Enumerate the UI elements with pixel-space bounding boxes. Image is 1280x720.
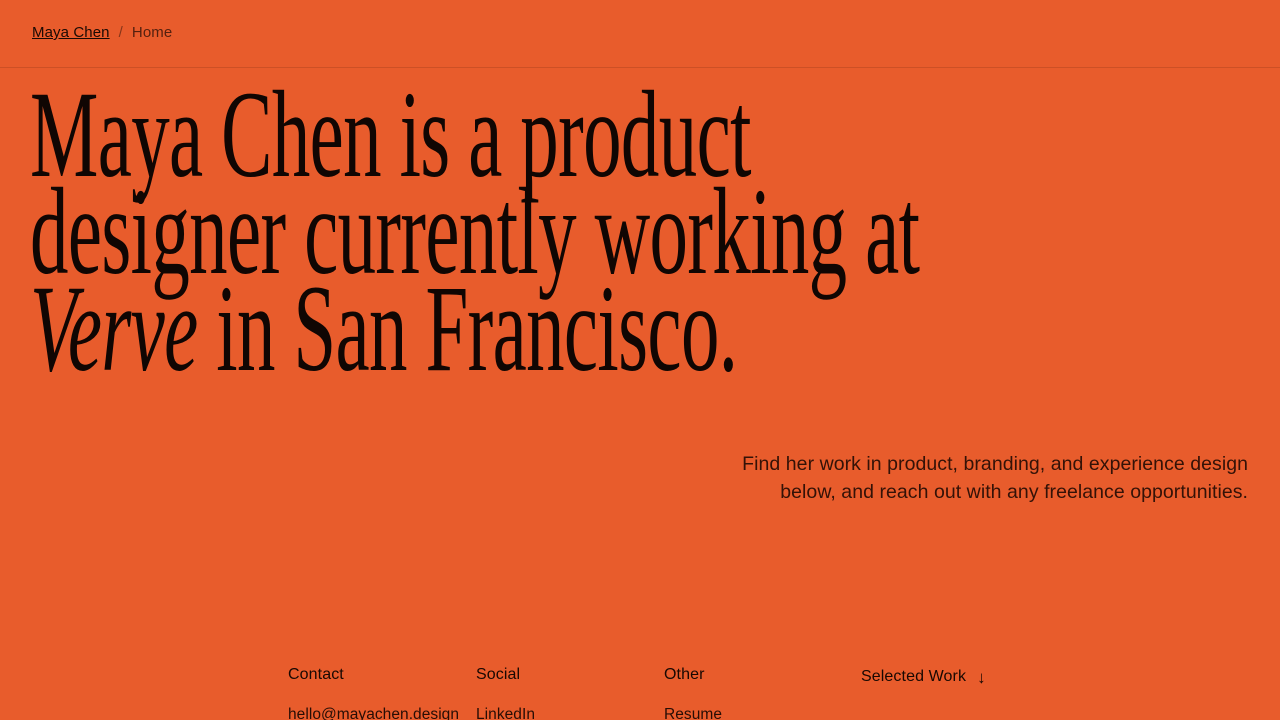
site-header: Maya Chen / Home bbox=[0, 0, 1280, 68]
intro-paragraph: Find her work in product, branding, and … bbox=[703, 450, 1248, 506]
headline-line-3: Verve in San Francisco. bbox=[30, 280, 1220, 377]
breadcrumb: Maya Chen / Home bbox=[32, 24, 172, 41]
footer-column-social: Social LinkedIn bbox=[476, 666, 535, 720]
footer-link-email[interactable]: hello@mayachen.design bbox=[288, 703, 459, 720]
page-root: Maya Chen / Home Maya Chen is a product … bbox=[0, 0, 1280, 720]
footer-column-title: Other bbox=[664, 666, 722, 684]
selected-work-button[interactable]: Selected Work ↓ bbox=[861, 668, 986, 686]
selected-work-label: Selected Work bbox=[861, 668, 966, 686]
page-title: Maya Chen is a product designer currentl… bbox=[30, 86, 1220, 377]
footer-link-resume[interactable]: Resume bbox=[664, 703, 722, 720]
footer-column-title: Contact bbox=[288, 666, 459, 684]
footer-column-other: Other Resume bbox=[664, 666, 722, 720]
arrow-down-icon: ↓ bbox=[977, 669, 986, 686]
breadcrumb-item-root[interactable]: Maya Chen bbox=[32, 24, 110, 41]
headline-line-3-rest: in San Francisco. bbox=[198, 260, 738, 397]
footer-column-contact: Contact hello@mayachen.design bbox=[288, 666, 459, 720]
site-footer: Contact hello@mayachen.design Social Lin… bbox=[0, 660, 1280, 720]
footer-column-title: Social bbox=[476, 666, 535, 684]
breadcrumb-item-current: Home bbox=[132, 24, 172, 41]
headline-emphasis: Verve bbox=[30, 260, 198, 397]
footer-link-linkedin[interactable]: LinkedIn bbox=[476, 703, 535, 720]
breadcrumb-separator: / bbox=[119, 24, 123, 41]
